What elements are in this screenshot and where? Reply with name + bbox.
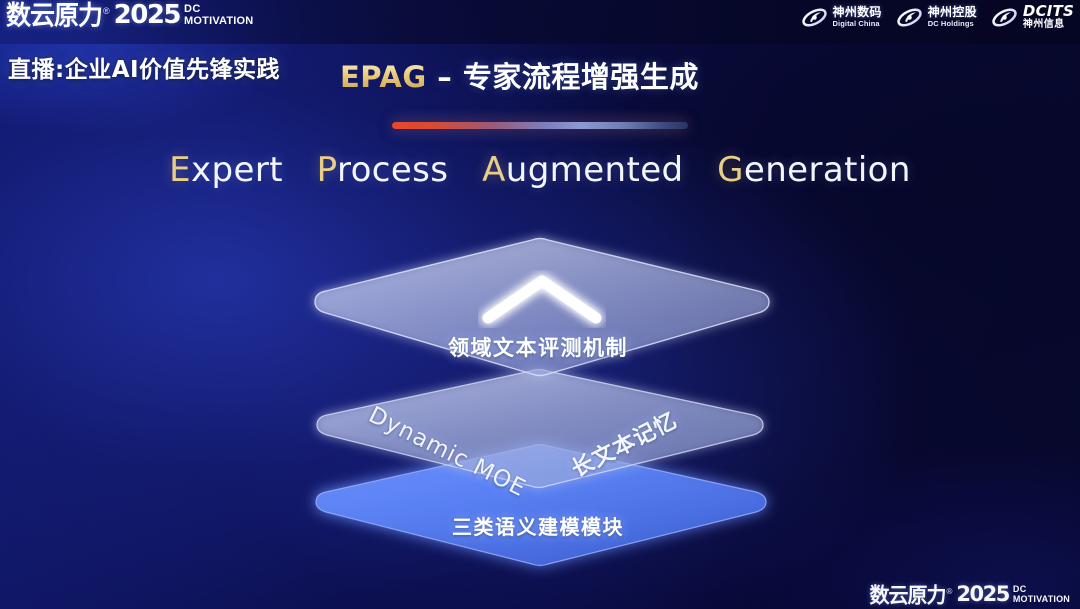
partner-text-dc-holdings: 神州控股 DC Holdings — [928, 6, 977, 28]
subtitle-initial: P — [317, 150, 337, 190]
layer-plate-top[interactable] — [298, 234, 784, 409]
swirl-logo-icon — [801, 5, 828, 30]
subtitle-initial: E — [169, 150, 191, 190]
subtitle-word-body: eneration — [744, 150, 911, 190]
slide-headline: EPAG – 专家流程增强生成 — [340, 54, 699, 96]
partner-logo-dcits: DCITS 神州信息 — [991, 4, 1074, 30]
event-logo-cn: 数云原力 — [6, 2, 102, 29]
partner-name-en: DC Holdings — [928, 20, 977, 28]
swirl-logo-icon — [896, 5, 923, 30]
partner-name-cn: 神州数码 — [833, 6, 882, 18]
watermark-logo-cn: 数云原力 — [869, 584, 945, 605]
live-session-title: 直播:企业AI价值先锋实践 — [8, 50, 280, 84]
gradient-divider — [392, 122, 688, 129]
headline-rest: – 专家流程增强生成 — [427, 60, 699, 94]
slide-canvas: 数云原力 ® 2025 DC MOTIVATION 直播:企业AI价值先锋实践 … — [0, 0, 1080, 609]
event-logo-dc-line2: MOTIVATION — [184, 16, 253, 27]
partner-name-cn: 神州信息 — [1023, 20, 1074, 30]
watermark-logo: 数云原力 ® 2025 DC MOTIVATION — [869, 584, 1070, 605]
partner-logo-digital-china: 神州数码 Digital China — [801, 5, 882, 30]
watermark-year: 2025 — [956, 584, 1008, 605]
watermark-dc: DC MOTIVATION — [1013, 585, 1070, 604]
subtitle-initial: G — [717, 150, 744, 190]
partner-text-dcits: DCITS 神州信息 — [1023, 4, 1074, 30]
subtitle-word-body: ugmented — [506, 150, 684, 190]
subtitle-word-augmented: Augmented — [482, 150, 683, 190]
watermark-dc-line2: MOTIVATION — [1013, 595, 1070, 604]
swirl-logo-icon — [991, 5, 1018, 30]
watermark-dc-line1: DC — [1013, 585, 1070, 594]
event-logo-year: 2025 — [114, 2, 180, 28]
partner-logo-group: 神州数码 Digital China 神州控股 DC Holdings — [801, 4, 1074, 30]
partner-logo-dc-holdings: 神州控股 DC Holdings — [896, 5, 977, 30]
subtitle-space — [460, 150, 471, 190]
watermark-registered-mark: ® — [946, 588, 952, 596]
subtitle-word-process: Process — [317, 150, 449, 190]
partner-name-cn: 神州控股 — [928, 6, 977, 18]
subtitle-word-expert: Expert — [169, 150, 283, 190]
subtitle-word-body: xpert — [191, 150, 283, 190]
event-logo-dc: DC MOTIVATION — [184, 4, 253, 27]
partner-name-en: DCITS — [1023, 4, 1074, 19]
subtitle-word-body: rocess — [337, 150, 448, 190]
subtitle-initial: A — [482, 150, 506, 190]
slide-subtitle: Expert Process Augmented Generation — [0, 150, 1080, 190]
subtitle-word-generation: Generation — [717, 150, 911, 190]
partner-text-digital-china: 神州数码 Digital China — [833, 6, 882, 28]
headline-acronym: EPAG — [340, 60, 427, 94]
event-logo-dc-line1: DC — [184, 4, 253, 15]
registered-mark: ® — [103, 7, 110, 16]
subtitle-space — [294, 150, 305, 190]
event-logo: 数云原力 ® 2025 DC MOTIVATION — [6, 2, 253, 28]
subtitle-space — [695, 150, 706, 190]
partner-name-en: Digital China — [833, 20, 882, 28]
